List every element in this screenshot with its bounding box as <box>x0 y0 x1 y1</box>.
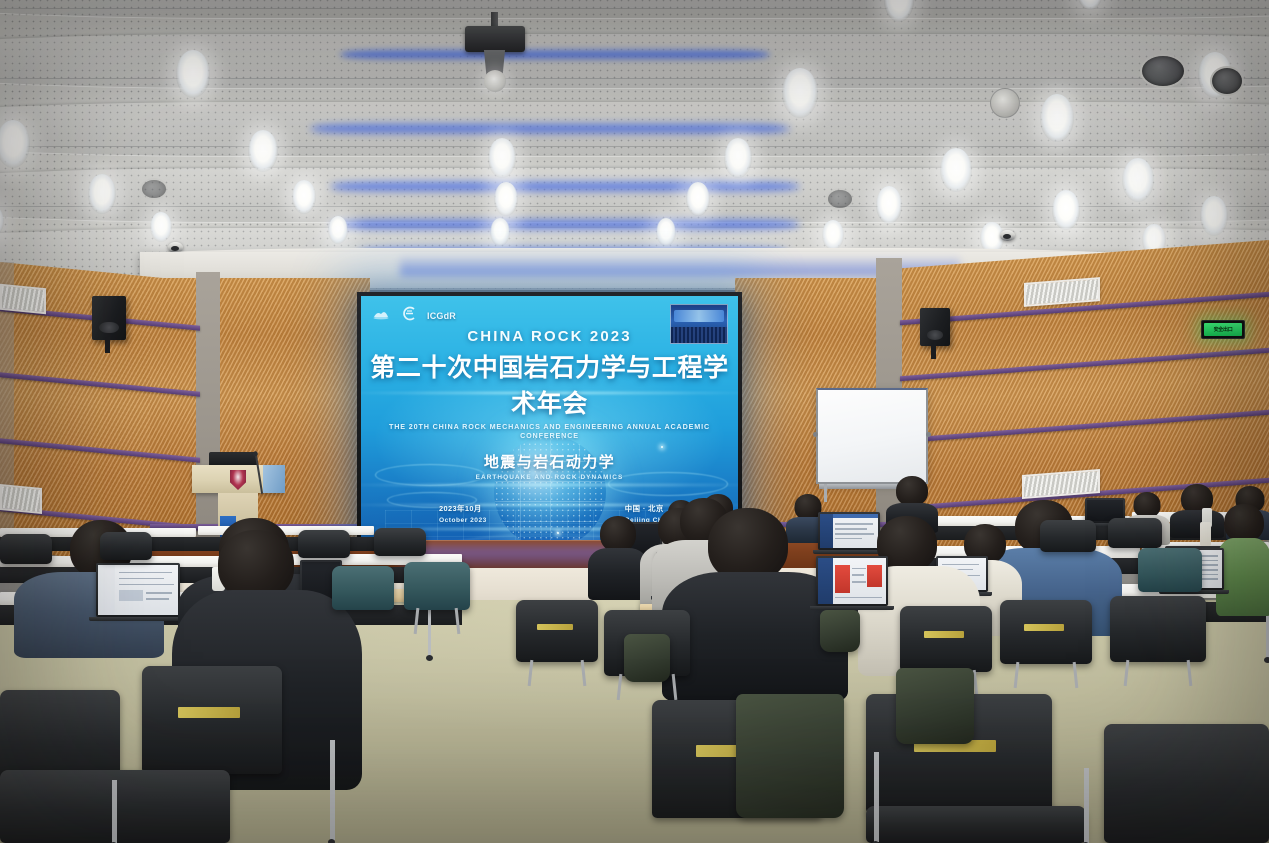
ceiling-downlight <box>876 186 902 224</box>
table-leg <box>428 604 431 656</box>
chair[interactable] <box>142 666 282 774</box>
emergency-exit-sign: 安全出口 <box>1201 320 1245 339</box>
ceiling-downlight <box>88 174 116 214</box>
chair-label-tag <box>924 631 964 638</box>
chair[interactable] <box>298 530 350 558</box>
chair[interactable] <box>1000 600 1092 664</box>
chair-back <box>1040 520 1096 552</box>
lecture-hall-photo: 安全出口 <box>0 0 1269 843</box>
slide-date-en: October 2023 <box>439 517 487 524</box>
ceiling-downlight <box>1200 196 1228 236</box>
whiteboard-surface <box>816 388 928 484</box>
led-accent-strip <box>330 180 800 193</box>
chair-back <box>142 666 282 774</box>
ceiling-downlight <box>1122 158 1154 202</box>
chair[interactable] <box>1040 520 1096 552</box>
ceiling-recess <box>828 190 852 208</box>
chair-back <box>1000 600 1092 664</box>
ceiling-downlight <box>1052 190 1080 230</box>
chair-back <box>900 606 992 672</box>
slide-title-en-top: CHINA ROCK 2023 <box>361 328 738 345</box>
ceiling-downlight <box>656 218 676 246</box>
chair[interactable] <box>100 532 152 560</box>
ceiling-seam <box>0 8 1269 9</box>
chair-label-tag <box>1024 624 1064 630</box>
ceiling-recess <box>1212 68 1242 94</box>
audience-person <box>588 516 648 596</box>
ceiling-downlight <box>822 220 844 250</box>
laptop-ui-sidebar <box>98 565 116 616</box>
laptop-ui-accent <box>867 565 882 587</box>
slide-date-block: 2023年10月 October 2023 <box>439 503 487 524</box>
chair-back <box>404 562 470 610</box>
chair-back <box>516 600 598 662</box>
chair-back <box>1138 548 1202 592</box>
backpack[interactable] <box>896 668 974 744</box>
chair-frame-leg <box>874 752 879 842</box>
ceiling-speaker <box>990 88 1020 118</box>
laptop-ui-sidebar <box>818 558 833 605</box>
slide-theme-en: EARTHQUAKE AND ROCK DYNAMICS <box>361 474 738 481</box>
ceiling-recess <box>1142 56 1184 86</box>
ceiling-downlight <box>488 138 516 178</box>
chair-frame-leg <box>330 740 335 840</box>
slide-theme-cn: 地震与岩石动力学 <box>361 451 738 472</box>
chair[interactable] <box>1108 518 1162 548</box>
chair-back <box>0 534 52 564</box>
slide-title-cn-main: 第二十次中国岩石力学与工程学术年会 <box>361 348 738 420</box>
backpack[interactable] <box>624 634 670 682</box>
chair-back <box>866 806 1086 843</box>
laptop-screen <box>98 565 179 616</box>
ceiling-downlight <box>248 130 278 172</box>
ceiling <box>0 0 1269 290</box>
slide-title-en-sub: THE 20TH CHINA ROCK MECHANICS AND ENGINE… <box>361 422 738 440</box>
person-head <box>708 508 788 582</box>
led-accent-strip <box>340 48 770 61</box>
chair[interactable] <box>900 606 992 672</box>
slide-title-block: CHINA ROCK 2023 第二十次中国岩石力学与工程学术年会 THE 20… <box>361 296 738 481</box>
whiteboard-pivot-knob <box>926 432 931 437</box>
chair-back <box>298 530 350 558</box>
whiteboard-pivot-knob <box>813 432 818 437</box>
speaker-cabinet <box>92 296 126 340</box>
projector-body <box>465 26 525 52</box>
left-wall-speaker <box>92 296 126 340</box>
chair[interactable] <box>332 566 394 610</box>
led-accent-strip <box>330 218 800 231</box>
slide-date-cn: 2023年10月 <box>439 503 487 514</box>
water-bottle <box>1200 522 1211 546</box>
audience-laptop <box>816 556 888 606</box>
chair[interactable] <box>1138 548 1202 592</box>
speaker-bracket <box>105 337 110 353</box>
chair-back <box>1108 518 1162 548</box>
backpack[interactable] <box>820 610 860 652</box>
chair[interactable] <box>0 534 52 564</box>
ceiling-projector <box>465 12 525 98</box>
person-torso <box>588 548 648 600</box>
chair-back <box>332 566 394 610</box>
ceiling-downlight <box>686 182 710 216</box>
chair-back <box>1104 724 1269 843</box>
chair[interactable] <box>1104 724 1269 843</box>
audience-laptop <box>96 563 180 617</box>
chair-back <box>374 528 426 556</box>
chair-back <box>100 532 152 560</box>
ceiling-downlight <box>292 180 316 214</box>
laptop-lid <box>96 563 180 617</box>
laptop-lid <box>816 556 888 606</box>
hvac-vent <box>0 284 46 315</box>
speaker-bracket <box>931 343 936 359</box>
ceiling-band <box>0 0 1269 18</box>
chair-frame-leg <box>1084 768 1089 843</box>
chair[interactable] <box>866 806 1086 843</box>
laptop-screen <box>818 558 887 605</box>
ceiling-recess <box>142 180 166 198</box>
ceiling-downlight <box>782 68 818 118</box>
speaker-cabinet <box>920 308 950 346</box>
right-wall-speaker <box>920 308 950 346</box>
hvac-vent <box>0 484 42 514</box>
ceiling-downlight <box>176 50 210 98</box>
ceiling-downlight <box>940 148 972 192</box>
ceiling-downlight <box>724 138 752 178</box>
exit-sign-pane: 安全出口 <box>1204 323 1242 336</box>
chair-back <box>1110 596 1206 662</box>
ceiling-downlight <box>494 182 518 216</box>
chair[interactable] <box>516 600 598 662</box>
person-head <box>1224 504 1264 542</box>
chair-label-tag <box>178 707 240 718</box>
ceiling-downlight <box>490 218 510 246</box>
person-head <box>896 476 928 506</box>
ceiling-downlight <box>328 216 348 244</box>
projector-lens <box>484 70 506 92</box>
person-head <box>600 516 636 552</box>
backpack[interactable] <box>736 694 844 818</box>
chair-frame-leg <box>112 780 117 843</box>
ceiling-downlight <box>150 212 172 242</box>
ceiling-downlight <box>1040 94 1074 142</box>
ceiling-seam <box>0 146 1269 147</box>
chair-label-tag <box>537 624 573 630</box>
exit-sign-label: 安全出口 <box>1214 326 1233 333</box>
chair[interactable] <box>374 528 426 556</box>
laptop-ui-accent <box>835 565 850 593</box>
chair[interactable] <box>404 562 470 610</box>
chair[interactable] <box>1110 596 1206 662</box>
led-accent-strip <box>310 122 790 135</box>
security-camera-icon <box>1000 230 1015 241</box>
